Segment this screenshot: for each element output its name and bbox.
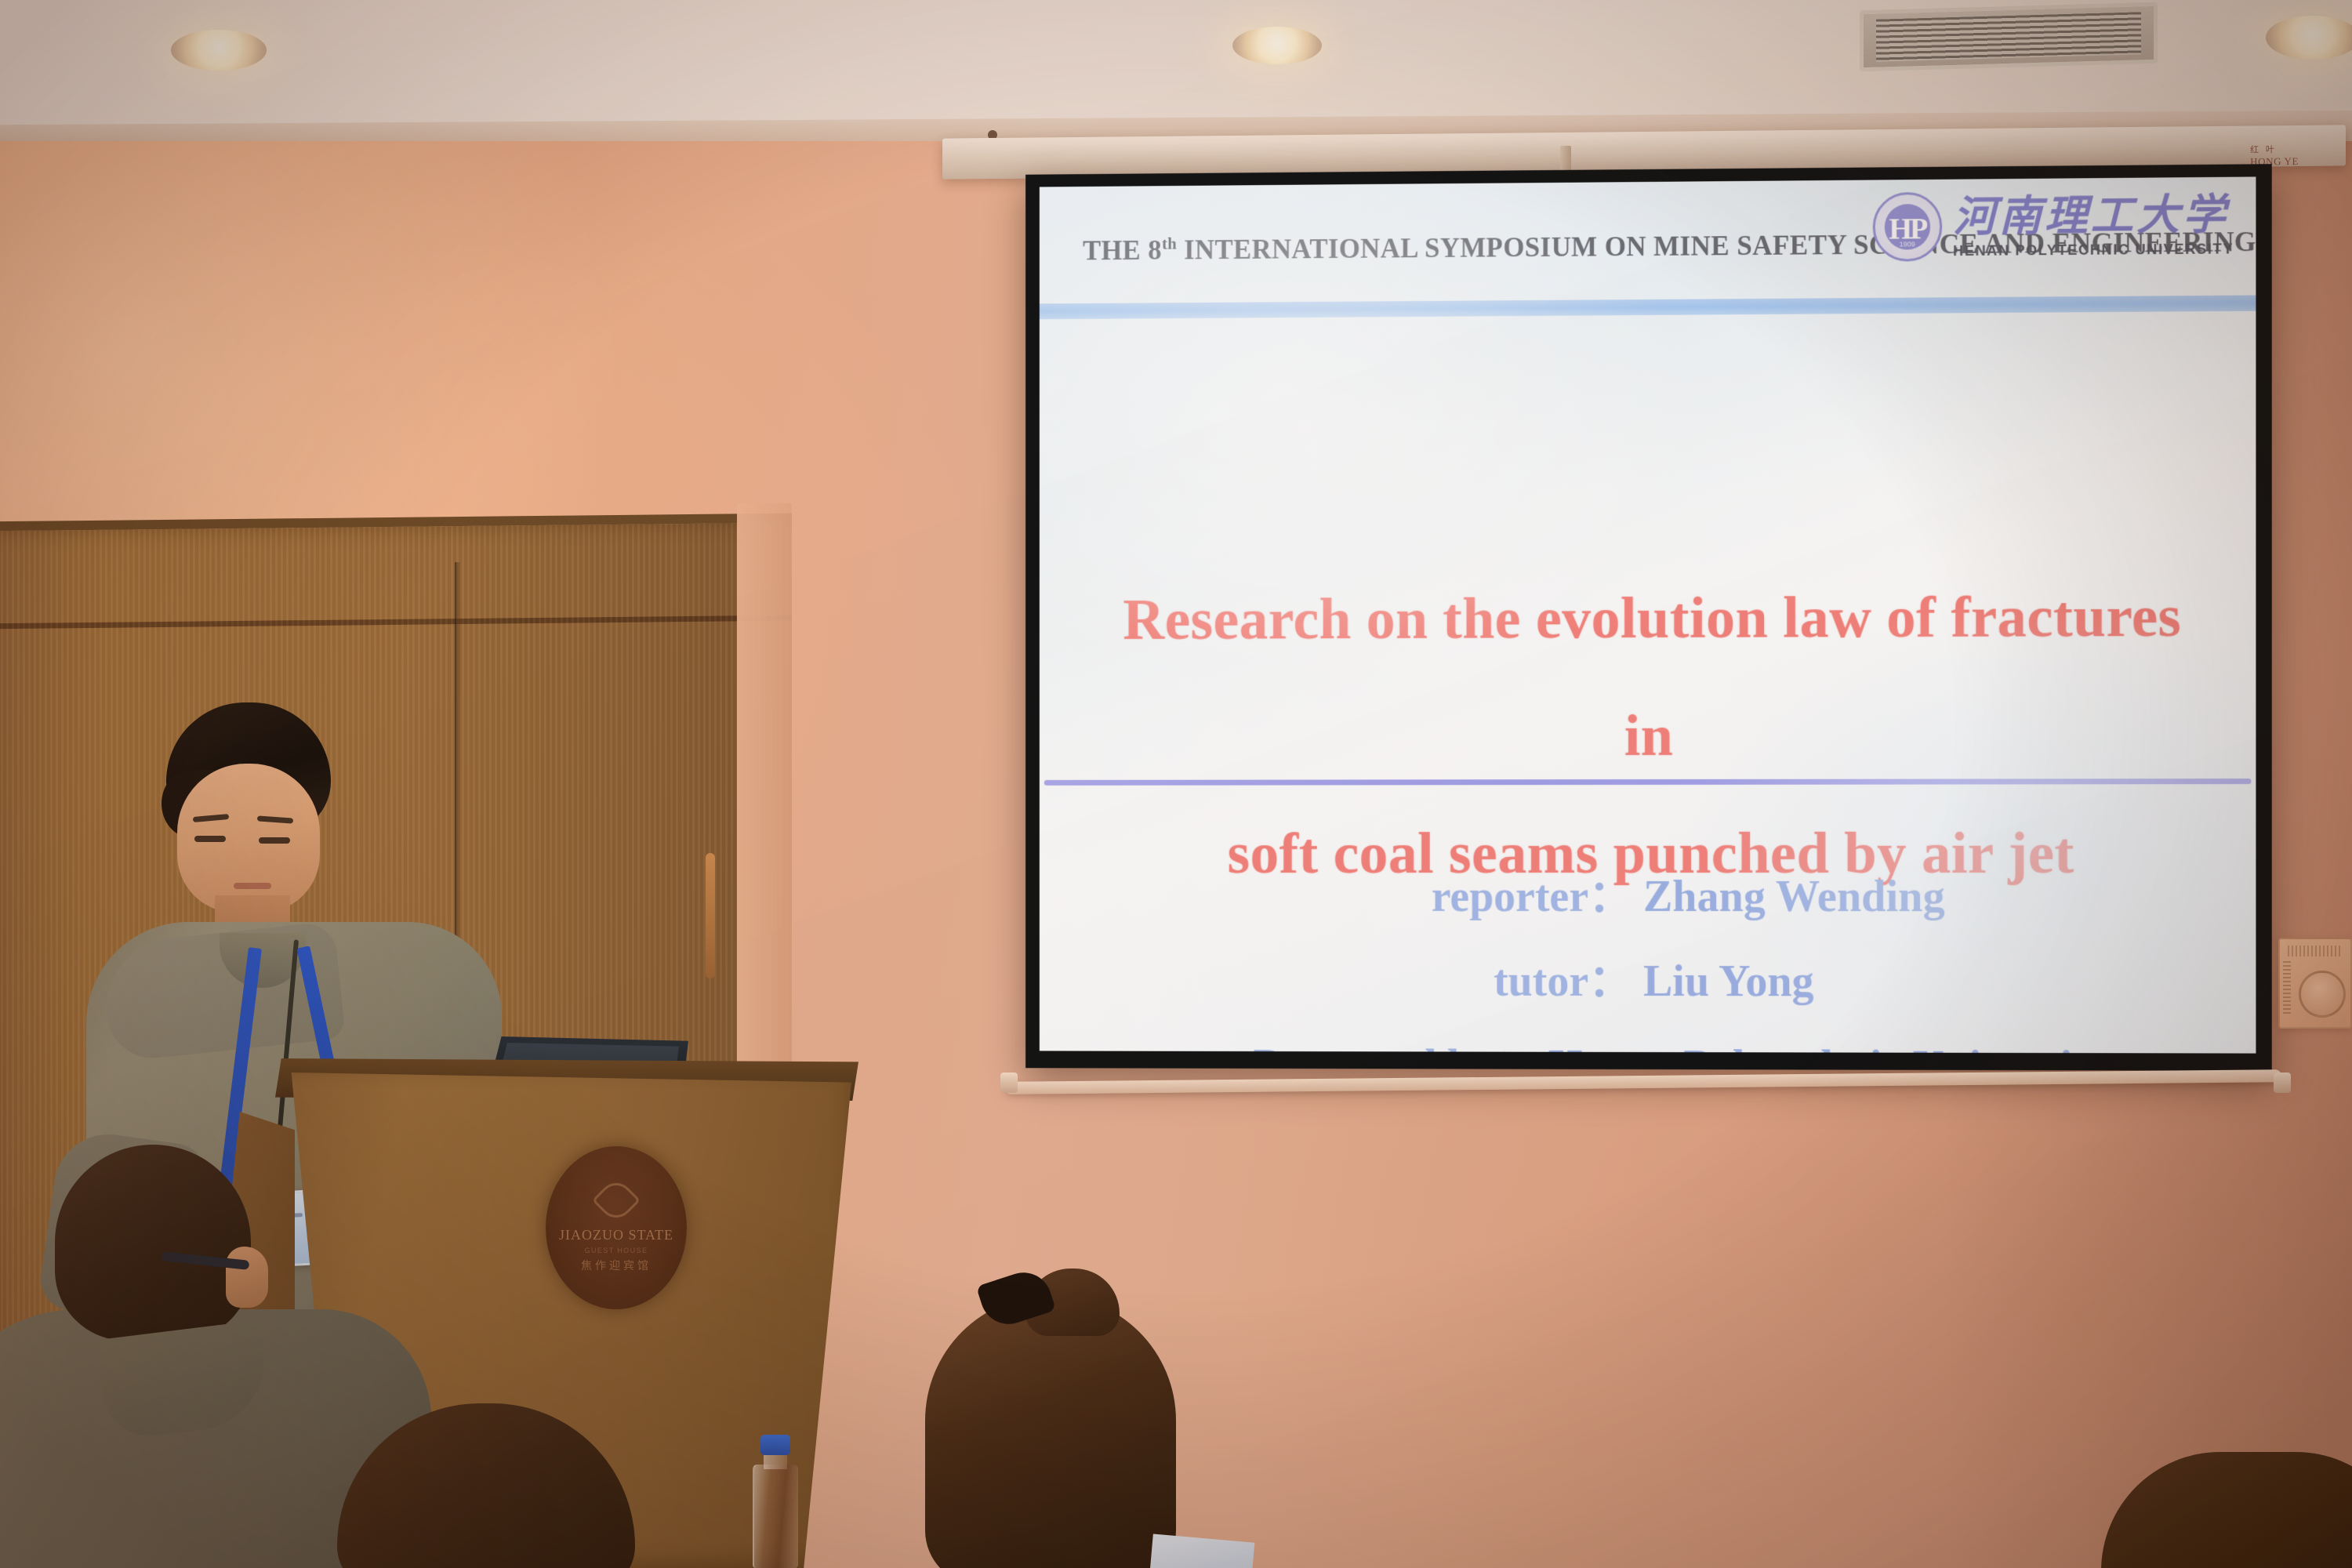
hvac-vent-icon [1860, 2, 2158, 72]
thermostat-dial-icon[interactable] [2299, 971, 2346, 1018]
presentation-slide: THE 8th INTERNATIONAL SYMPOSIUM ON MINE … [1040, 176, 2256, 1053]
university-seal-icon: HP 1909 [1873, 192, 1943, 262]
bottle-body [753, 1465, 798, 1568]
audience-head [55, 1145, 251, 1341]
university-logo: HP 1909 河南理工大学 HENAN POLYTECHNIC UNIVERS… [1873, 190, 2234, 262]
meta-label-tutor: tutor： [1276, 939, 1643, 1024]
podium-emblem: JIAOZUO STATE GUEST HOUSE 焦作迎宾馆 [546, 1146, 687, 1309]
slide-header: THE 8th INTERNATIONAL SYMPOSIUM ON MINE … [1040, 176, 2256, 303]
thermostat-slider[interactable] [2283, 961, 2291, 1016]
ceiling-downlight-icon [2266, 16, 2352, 60]
projection-screen: THE 8th INTERNATIONAL SYMPOSIUM ON MINE … [1025, 164, 2272, 1071]
presenter-eye [259, 837, 290, 844]
meta-value-reporter: Zhang Wending [1643, 855, 2013, 939]
wall-thermostat[interactable] [2278, 938, 2352, 1029]
meta-label-presented-by: Presented by： [1182, 1023, 1548, 1054]
podium-emblem-name-en: JIAOZUO STATE [559, 1227, 673, 1243]
podium-emblem-name-cn: 焦作迎宾馆 [581, 1258, 652, 1273]
university-name-cn: 河南理工大学 [1953, 191, 2234, 239]
audience-head [2101, 1452, 2352, 1568]
seal-year: 1909 [1875, 240, 1940, 249]
vent-slats [1876, 12, 2141, 61]
water-bottle[interactable] [753, 1435, 798, 1568]
audience-ear [226, 1247, 268, 1308]
presenter-mouth [234, 883, 271, 889]
lotus-knot-icon [592, 1175, 641, 1224]
audience-member [337, 1403, 698, 1568]
conference-room-photo: 红 叶 HONG YE THE 8th INTERNATIONAL SYMPOS… [0, 0, 2352, 1568]
meta-row-reporter: reporter： Zhang Wending [1040, 855, 2256, 940]
projection-surface: THE 8th INTERNATIONAL SYMPOSIUM ON MINE … [1040, 176, 2256, 1053]
university-name-en: HENAN POLYTECHNIC UNIVERSITY [1953, 241, 2234, 260]
thermostat-vents [2288, 946, 2343, 956]
door-transom-line [0, 615, 792, 630]
meta-label-reporter: reporter： [1276, 855, 1643, 939]
screen-bar-end-cap [2274, 1073, 2291, 1093]
door-handle-icon[interactable] [706, 853, 715, 978]
symposium-title-ordinal: th [1162, 234, 1177, 253]
audience-member [0, 1145, 384, 1568]
presenter-eye [194, 836, 226, 842]
presentation-meta-block: reporter： Zhang Wending tutor： Liu Yong … [1040, 855, 2256, 1054]
ceiling-downlight-icon [1232, 27, 1322, 64]
meta-value-presented-by: Henan Polytechnic University [1548, 1024, 2109, 1054]
housing-brand-cn: 红 叶 [2250, 143, 2299, 156]
symposium-title-prefix: THE 8 [1083, 234, 1162, 266]
meta-row-presented-by: Presented by： Henan Polytechnic Universi… [1040, 1023, 2256, 1054]
ceiling-downlight-icon [171, 30, 267, 71]
university-name-block: 河南理工大学 HENAN POLYTECHNIC UNIVERSITY [1953, 191, 2234, 259]
audience-hair [925, 1295, 1176, 1568]
meta-value-tutor: Liu Yong [1643, 939, 2013, 1025]
audience-head [337, 1403, 635, 1568]
audience-member [925, 1264, 1239, 1568]
screen-bar-end-cap [1000, 1073, 1018, 1093]
audience-member [2101, 1452, 2352, 1568]
slide-title-line-1: Research on the evolution law of fractur… [1094, 557, 2212, 796]
podium-emblem-subtitle: GUEST HOUSE [585, 1247, 648, 1254]
bottle-cap [760, 1435, 790, 1455]
meta-row-tutor: tutor： Liu Yong [1040, 938, 2256, 1025]
